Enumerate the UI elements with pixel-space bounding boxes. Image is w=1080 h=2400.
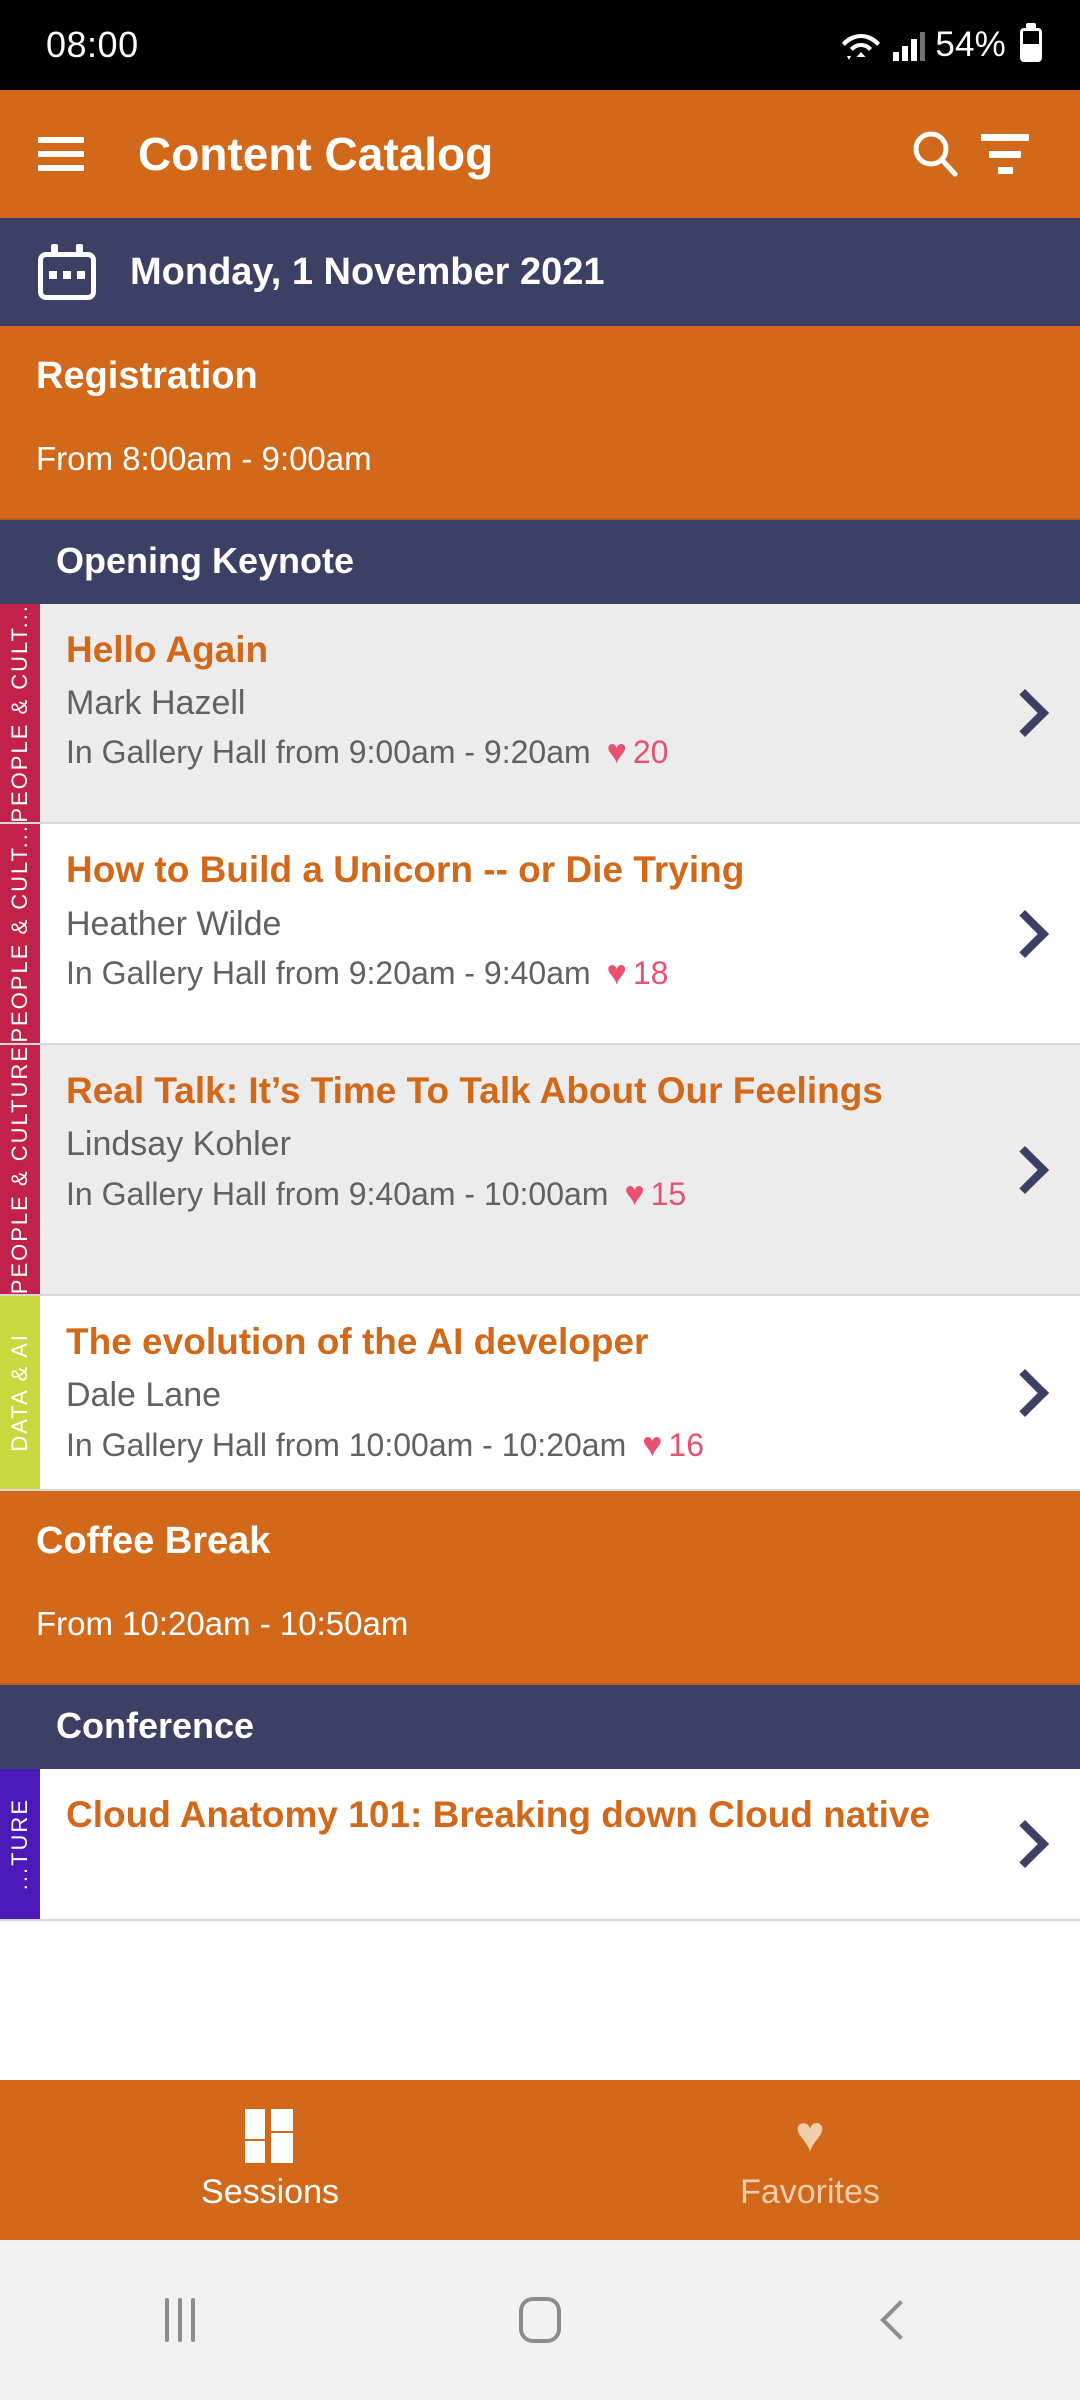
track-label: DATA & AI — [0, 1333, 40, 1452]
wifi-icon — [841, 28, 881, 62]
android-navigation-bar — [0, 2240, 1080, 2400]
break-time: From 8:00am - 9:00am — [36, 440, 1044, 478]
section-header-label: Opening Keynote — [56, 540, 1044, 582]
session-speaker: Lindsay Kohler — [66, 1123, 950, 1166]
session-meta: In Gallery Hall from 9:00am - 9:20am♥20 — [66, 732, 950, 772]
hamburger-menu-icon[interactable] — [38, 137, 84, 171]
search-button[interactable] — [900, 119, 970, 189]
session-title: Cloud Anatomy 101: Breaking down Cloud n… — [66, 1791, 950, 1839]
heart-icon: ♥ — [795, 2109, 825, 2159]
nav-label-favorites: Favorites — [740, 2173, 880, 2212]
session-title: Hello Again — [66, 626, 950, 674]
like-count: 20 — [633, 732, 669, 772]
session-open-button[interactable] — [970, 604, 1080, 823]
date-label: Monday, 1 November 2021 — [130, 251, 604, 294]
phone-screen: 08:00 54% Content Catalog — [0, 0, 1080, 2400]
track-stripe: ...TURE — [0, 1769, 40, 1919]
session-open-button[interactable] — [970, 1045, 1080, 1294]
track-label: PEOPLE & CULT... — [0, 824, 40, 1043]
nav-item-sessions[interactable]: Sessions — [0, 2109, 540, 2212]
chevron-right-icon — [1001, 1820, 1049, 1868]
home-button[interactable] — [360, 2297, 720, 2343]
track-stripe: PEOPLE & CULTURE — [0, 1045, 40, 1294]
heart-icon: ♥ — [624, 1177, 644, 1211]
search-icon — [908, 127, 962, 181]
cellular-signal-icon — [891, 28, 925, 62]
track-stripe: DATA & AI — [0, 1296, 40, 1489]
session-row[interactable]: PEOPLE & CULT...Hello AgainMark HazellIn… — [0, 604, 1080, 825]
like-counter[interactable]: ♥20 — [607, 732, 669, 772]
chevron-right-icon — [1001, 1369, 1049, 1417]
chevron-right-icon — [1001, 1146, 1049, 1194]
session-row[interactable]: PEOPLE & CULTUREReal Talk: It’s Time To … — [0, 1045, 1080, 1296]
date-header: Monday, 1 November 2021 — [0, 218, 1080, 326]
session-open-button[interactable] — [970, 1296, 1080, 1489]
chevron-right-icon — [1001, 689, 1049, 737]
dashboard-grid-icon — [245, 2109, 295, 2159]
like-counter[interactable]: ♥18 — [607, 953, 669, 993]
back-button[interactable] — [720, 2306, 1080, 2334]
status-indicators: 54% — [841, 25, 1042, 65]
app-bar: Content Catalog — [0, 90, 1080, 218]
track-label: PEOPLE & CULTURE — [0, 1045, 40, 1294]
battery-percent-label: 54% — [935, 25, 1006, 65]
chevron-right-icon — [1001, 910, 1049, 958]
nav-label-sessions: Sessions — [201, 2173, 339, 2212]
session-details: Real Talk: It’s Time To Talk About Our F… — [40, 1045, 970, 1294]
track-label: ...TURE — [0, 1798, 40, 1890]
status-time: 08:00 — [46, 24, 139, 66]
back-icon — [880, 2300, 920, 2340]
section-header-label: Conference — [56, 1705, 1044, 1747]
recents-button[interactable] — [0, 2298, 360, 2342]
bottom-navigation: Sessions ♥ Favorites — [0, 2080, 1080, 2240]
like-count: 15 — [651, 1174, 687, 1214]
session-speaker: Heather Wilde — [66, 903, 950, 946]
break-title: Registration — [36, 356, 1044, 398]
page-title: Content Catalog — [138, 127, 900, 181]
session-details: The evolution of the AI developerDale La… — [40, 1296, 970, 1489]
track-label: PEOPLE & CULT... — [0, 604, 40, 823]
session-location-time: In Gallery Hall from 10:00am - 10:20am — [66, 1425, 626, 1465]
break-time: From 10:20am - 10:50am — [36, 1605, 1044, 1643]
session-meta: In Gallery Hall from 10:00am - 10:20am♥1… — [66, 1425, 950, 1465]
session-row[interactable]: DATA & AIThe evolution of the AI develop… — [0, 1296, 1080, 1491]
status-bar: 08:00 54% — [0, 0, 1080, 90]
session-title: How to Build a Unicorn -- or Die Trying — [66, 846, 950, 894]
battery-icon — [1020, 28, 1042, 62]
session-meta: In Gallery Hall from 9:40am - 10:00am♥15 — [66, 1174, 950, 1214]
break-block: RegistrationFrom 8:00am - 9:00am — [0, 326, 1080, 520]
break-title: Coffee Break — [36, 1521, 1044, 1563]
heart-icon: ♥ — [607, 735, 627, 769]
session-open-button[interactable] — [970, 1769, 1080, 1919]
session-details: Hello AgainMark HazellIn Gallery Hall fr… — [40, 604, 970, 823]
calendar-icon — [38, 244, 96, 300]
filter-icon — [981, 134, 1029, 174]
session-speaker: Mark Hazell — [66, 682, 950, 725]
nav-item-favorites[interactable]: ♥ Favorites — [540, 2109, 1080, 2212]
home-icon — [519, 2297, 561, 2343]
session-location-time: In Gallery Hall from 9:00am - 9:20am — [66, 732, 591, 772]
session-location-time: In Gallery Hall from 9:40am - 10:00am — [66, 1174, 608, 1214]
session-row[interactable]: PEOPLE & CULT...How to Build a Unicorn -… — [0, 824, 1080, 1045]
like-count: 18 — [633, 953, 669, 993]
filter-button[interactable] — [970, 119, 1040, 189]
session-row[interactable]: ...TURECloud Anatomy 101: Breaking down … — [0, 1769, 1080, 1921]
like-counter[interactable]: ♥15 — [624, 1174, 686, 1214]
heart-icon: ♥ — [642, 1428, 662, 1462]
track-stripe: PEOPLE & CULT... — [0, 604, 40, 823]
session-meta: In Gallery Hall from 9:20am - 9:40am♥18 — [66, 953, 950, 993]
session-speaker: Dale Lane — [66, 1374, 950, 1417]
session-open-button[interactable] — [970, 824, 1080, 1043]
session-title: Real Talk: It’s Time To Talk About Our F… — [66, 1067, 950, 1115]
recents-icon — [165, 2298, 195, 2342]
section-header: Opening Keynote — [0, 520, 1080, 604]
break-block: Coffee BreakFrom 10:20am - 10:50am — [0, 1491, 1080, 1685]
track-stripe: PEOPLE & CULT... — [0, 824, 40, 1043]
session-details: How to Build a Unicorn -- or Die TryingH… — [40, 824, 970, 1043]
session-details: Cloud Anatomy 101: Breaking down Cloud n… — [40, 1769, 970, 1919]
session-location-time: In Gallery Hall from 9:20am - 9:40am — [66, 953, 591, 993]
heart-icon: ♥ — [607, 956, 627, 990]
session-title: The evolution of the AI developer — [66, 1318, 950, 1366]
like-count: 16 — [668, 1425, 704, 1465]
like-counter[interactable]: ♥16 — [642, 1425, 704, 1465]
section-header: Conference — [0, 1685, 1080, 1769]
